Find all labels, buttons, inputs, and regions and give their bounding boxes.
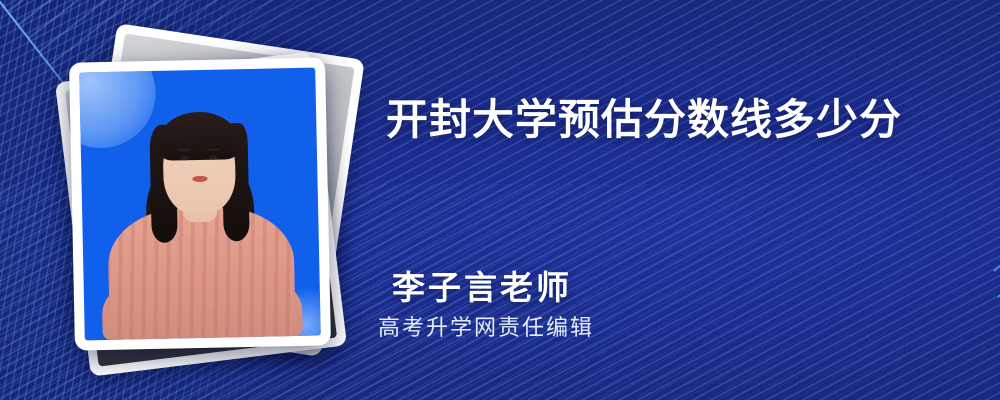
author-name: 李子言老师: [392, 268, 822, 308]
author-photo-card: [69, 57, 331, 350]
portrait-mouth: [192, 176, 207, 182]
portrait-dress: [107, 206, 296, 340]
author-role: 高考升学网责任编辑: [378, 315, 822, 341]
author-photo-stack: [60, 38, 356, 368]
author-photo: [79, 68, 321, 341]
portrait-hair-top: [158, 111, 239, 161]
author-byline: 李子言老师 高考升学网责任编辑: [392, 268, 822, 341]
portrait-eyebrow-right: [207, 148, 220, 151]
portrait-eyebrow-left: [178, 149, 191, 152]
article-header-banner: 开封大学预估分数线多少分 李子言老师 高考升学网责任编辑: [0, 0, 1000, 400]
page-title: 开封大学预估分数线多少分: [386, 96, 902, 144]
portrait-illustration: [80, 105, 321, 340]
